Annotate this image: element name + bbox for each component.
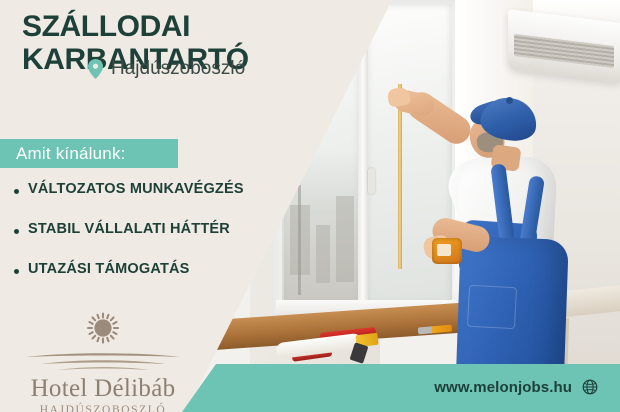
location-label: Hajdúszoboszló bbox=[111, 58, 245, 80]
water-waves-icon bbox=[18, 352, 188, 372]
bullet-dot-icon bbox=[14, 189, 19, 194]
bullet-dot-icon bbox=[14, 269, 19, 274]
map-pin-icon bbox=[88, 59, 103, 79]
list-item: STABIL VÁLLALATI HÁTTÉR bbox=[14, 222, 264, 238]
list-item: UTAZÁSI TÁMOGATÁS bbox=[14, 262, 264, 278]
benefits-list: VÁLTOZATOS MUNKAVÉGZÉS STABIL VÁLLALATI … bbox=[14, 182, 264, 302]
footer-url[interactable]: www.melonjobs.hu bbox=[434, 379, 572, 396]
sun-over-water-icon bbox=[18, 312, 188, 354]
overall-pocket bbox=[467, 285, 517, 329]
hotel-logo: Hotel Délibáb HAJDÚSZOBOSZLÓ ★ ★ ★ ★ bbox=[18, 312, 188, 412]
job-ad-banner: SZÁLLODAI KARBANTARTÓ Hajdúszoboszló Ami… bbox=[0, 0, 620, 412]
benefit-label: UTAZÁSI TÁMOGATÁS bbox=[28, 262, 190, 278]
logo-name: Hotel Délibáb bbox=[18, 375, 188, 403]
logo-city: HAJDÚSZOBOSZLÓ bbox=[18, 404, 188, 412]
bullet-dot-icon bbox=[14, 229, 19, 234]
offer-banner-label: Amit kínálunk: bbox=[0, 144, 126, 164]
benefit-label: VÁLTOZATOS MUNKAVÉGZÉS bbox=[28, 182, 244, 198]
cap-button bbox=[506, 97, 513, 104]
window-handle-secondary bbox=[272, 168, 288, 176]
benefit-label: STABIL VÁLLALATI HÁTTÉR bbox=[28, 222, 230, 238]
location-row: Hajdúszoboszló bbox=[88, 58, 245, 80]
tape-measure-body bbox=[432, 238, 462, 264]
offer-banner: Amit kínálunk: bbox=[0, 139, 178, 168]
list-item: VÁLTOZATOS MUNKAVÉGZÉS bbox=[14, 182, 264, 198]
